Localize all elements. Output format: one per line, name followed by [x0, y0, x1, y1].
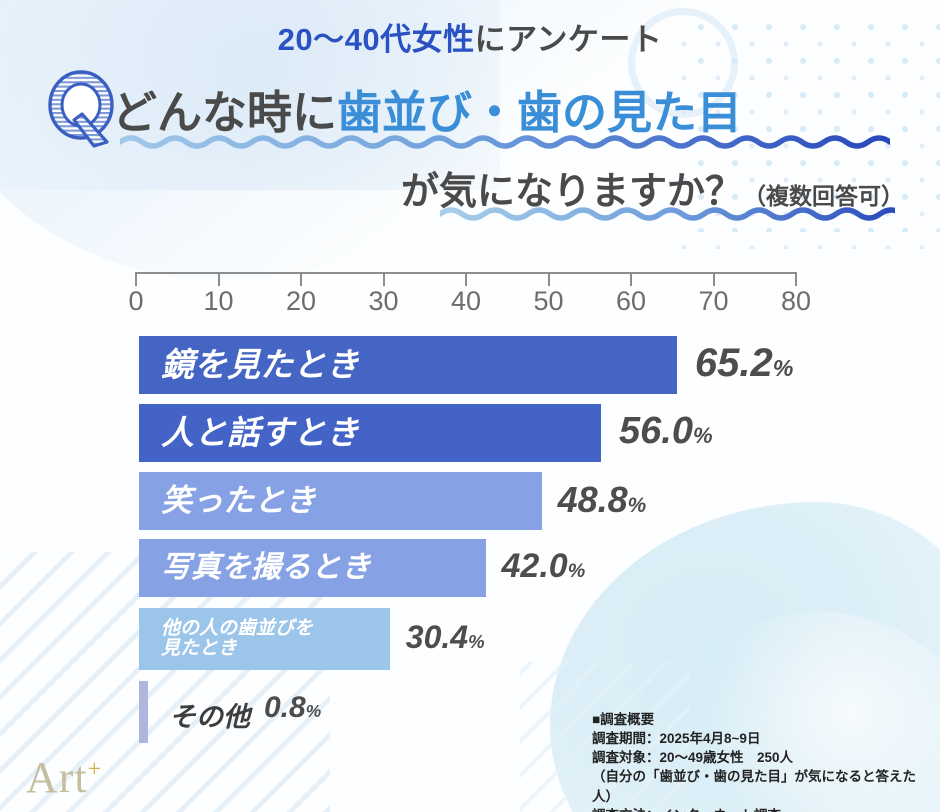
- chart-bar-value-unit: %: [468, 631, 485, 652]
- axis-tick: [713, 272, 715, 286]
- axis-tick-label: 60: [616, 286, 646, 317]
- header: 20〜40代女性にアンケート どんな時に歯並び・歯の見た目: [0, 0, 940, 240]
- chart-x-axis-labels: 01020304050607080: [136, 286, 796, 314]
- question-line-1: どんな時に歯並び・歯の見た目: [112, 76, 742, 141]
- chart-bar-row: 他の人の歯並びを 見たとき30.4%: [139, 608, 929, 670]
- chart-bar-value-number: 0.8: [264, 691, 306, 724]
- kicker-line: 20〜40代女性にアンケート: [0, 14, 940, 59]
- chart-bar: [139, 681, 148, 743]
- chart-bar-label: 笑ったとき: [161, 485, 316, 518]
- chart-bar-row: 人と話すとき56.0%: [139, 404, 929, 462]
- chart-bar: 笑ったとき: [139, 472, 542, 530]
- wavy-underline-1: [120, 133, 890, 149]
- chart-bar-label: その他: [169, 695, 250, 734]
- axis-tick: [465, 272, 467, 286]
- axis-tick: [548, 272, 550, 286]
- chart-bar-value-unit: %: [306, 701, 321, 721]
- chart-bar: 人と話すとき: [139, 404, 601, 462]
- axis-tick-label: 50: [533, 286, 563, 317]
- chart-bar: 写真を撮るとき: [139, 539, 486, 597]
- wavy-underline-2: [440, 205, 895, 221]
- axis-tick-label: 70: [698, 286, 728, 317]
- axis-tick-label: 0: [128, 286, 143, 317]
- axis-tick-label: 30: [368, 286, 398, 317]
- chart-bar-row: 笑ったとき48.8%: [139, 472, 929, 530]
- chart-bar-value-number: 65.2: [695, 341, 773, 385]
- chart-bar-value: 30.4%: [406, 619, 485, 656]
- chart-bar-label: 人と話すとき: [161, 416, 359, 451]
- chart-bar-value-number: 48.8: [558, 479, 628, 520]
- chart-bar-value-unit: %: [773, 355, 794, 381]
- chart-bar-value: 0.8%: [264, 691, 321, 725]
- brand-logo-plus-icon: +: [88, 756, 103, 782]
- chart-bar-value-unit: %: [568, 560, 586, 582]
- question-q-icon: [44, 68, 122, 150]
- chart-bar-row: 鏡を見たとき65.2%: [139, 336, 929, 394]
- chart-bar-row: 写真を撮るとき42.0%: [139, 539, 929, 597]
- chart-bar-value-number: 56.0: [619, 410, 693, 452]
- chart-bar: 鏡を見たとき: [139, 336, 677, 394]
- axis-tick-label: 40: [451, 286, 481, 317]
- chart-bar-value-unit: %: [693, 423, 713, 448]
- axis-tick: [300, 272, 302, 286]
- chart-x-axis: [136, 272, 796, 286]
- brand-logo: Art+: [26, 756, 102, 800]
- chart-bar-value-number: 42.0: [502, 547, 568, 585]
- axis-tick: [795, 272, 797, 286]
- chart-bar-label: 写真を撮るとき: [161, 552, 371, 584]
- chart-bar-value-number: 30.4: [406, 619, 468, 655]
- chart-bar-value: 42.0%: [502, 547, 586, 586]
- axis-tick-label: 10: [203, 286, 233, 317]
- question-line-1-plain: どんな時に: [112, 87, 337, 138]
- axis-tick: [218, 272, 220, 286]
- axis-tick: [135, 272, 137, 286]
- kicker-rest: にアンケート: [475, 22, 663, 57]
- axis-tick: [383, 272, 385, 286]
- axis-tick-label: 20: [286, 286, 316, 317]
- question-line-1-highlight: 歯並び・歯の見た目: [337, 87, 742, 138]
- axis-tick-label: 80: [781, 286, 811, 317]
- chart-bar-label: 他の人の歯並びを 見たとき: [161, 619, 313, 659]
- chart-bar-value-unit: %: [628, 494, 647, 517]
- chart-bar-value: 65.2%: [695, 341, 793, 386]
- chart-bar: 他の人の歯並びを 見たとき: [139, 608, 390, 670]
- infographic-poster: 20〜40代女性にアンケート どんな時に歯並び・歯の見た目: [0, 0, 940, 812]
- chart-bar-label: 鏡を見たとき: [161, 348, 359, 383]
- bar-chart: 鏡を見たとき65.2%人と話すとき56.0%笑ったとき48.8%写真を撮るとき4…: [0, 336, 940, 736]
- chart-bar-value: 48.8%: [558, 479, 647, 521]
- brand-logo-text: Art: [26, 753, 88, 802]
- chart-bar-value: 56.0%: [619, 410, 713, 453]
- kicker-highlight: 20〜40代女性: [278, 22, 475, 57]
- axis-tick: [630, 272, 632, 286]
- survey-summary-note: ■調査概要 調査期間：2025年4月8~9日 調査対象：20〜49歳女性 250…: [592, 710, 940, 812]
